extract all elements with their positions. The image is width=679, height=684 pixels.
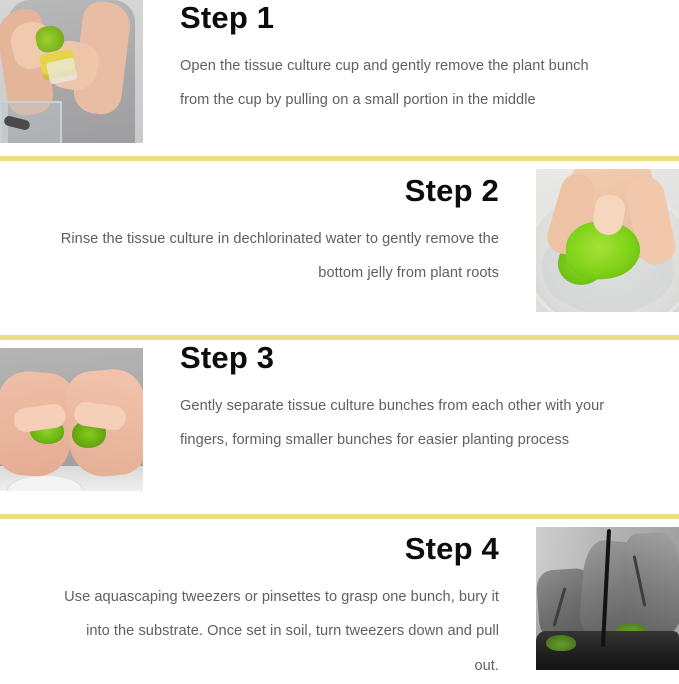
step-2-heading: Step 2	[60, 161, 499, 206]
step-1-heading: Step 1	[180, 0, 619, 33]
step-1-photo	[0, 0, 143, 143]
step-3-text-block: Step 3 Gently separate tissue culture bu…	[143, 340, 679, 458]
step-row-4: Step 4 Use aquascaping tweezers or pinse…	[0, 519, 679, 681]
step-4-heading: Step 4	[60, 519, 499, 564]
step-4-photo	[536, 527, 679, 670]
step-2-body: Rinse the tissue culture in dechlorinate…	[60, 222, 499, 291]
steps-infographic: Step 1 Open the tissue culture cup and g…	[0, 0, 679, 684]
step-3-heading: Step 3	[180, 340, 619, 373]
step-4-text-block: Step 4 Use aquascaping tweezers or pinse…	[0, 519, 536, 681]
step-2-text-block: Step 2 Rinse the tissue culture in dechl…	[0, 161, 536, 291]
step-2-photo	[536, 169, 679, 312]
photo-rock-right	[621, 532, 679, 635]
step-row-3: Step 3 Gently separate tissue culture bu…	[0, 340, 679, 514]
step-1-body: Open the tissue culture cup and gently r…	[180, 49, 619, 118]
step-row-1: Step 1 Open the tissue culture cup and g…	[0, 0, 679, 156]
step-3-photo	[0, 348, 143, 491]
step-1-text-block: Step 1 Open the tissue culture cup and g…	[143, 0, 679, 118]
step-4-body: Use aquascaping tweezers or pinsettes to…	[60, 580, 499, 681]
step-3-body: Gently separate tissue culture bunches f…	[180, 389, 619, 458]
photo-planted-bunch-left	[546, 635, 576, 651]
step-row-2: Step 2 Rinse the tissue culture in dechl…	[0, 161, 679, 335]
